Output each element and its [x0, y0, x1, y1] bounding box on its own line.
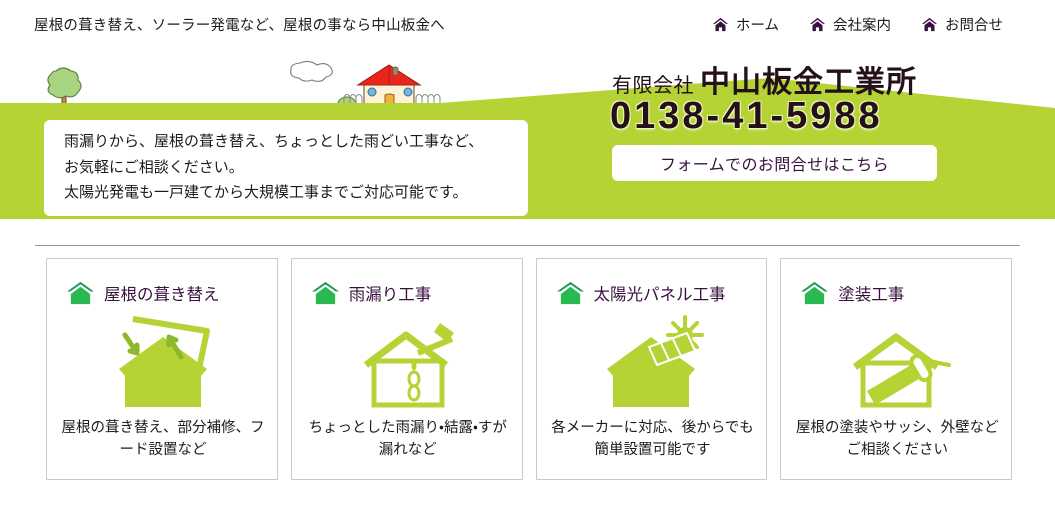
card-caption: 屋根の葺き替え、部分補修、フード設置など — [57, 417, 269, 462]
home-icon — [809, 17, 826, 32]
phone-number: 0138-41-5988 — [610, 95, 883, 138]
roof-replacement-icon — [47, 311, 279, 411]
nav-label: お問合せ — [945, 14, 1003, 35]
section-divider — [35, 245, 1020, 246]
service-card-painting[interactable]: 塗装工事 屋根の塗装やサッシ、外壁などご相談ください — [780, 258, 1012, 480]
home-icon — [66, 280, 95, 306]
paint-roller-icon — [781, 311, 1013, 411]
home-icon — [556, 280, 585, 306]
contact-form-button-label: フォームでのお問合せはこちら — [660, 151, 889, 175]
card-header: 塗装工事 — [800, 280, 904, 306]
home-icon — [311, 280, 340, 306]
leak-repair-icon — [292, 311, 524, 411]
nav-item-contact[interactable]: お問合せ — [921, 14, 1003, 35]
hero-message-line: 雨漏りから、屋根の葺き替え、ちょっとした雨どい工事など、 — [64, 133, 508, 152]
hero-banner: 雨漏りから、屋根の葺き替え、ちょっとした雨どい工事など、 お気軽にご相談ください… — [0, 47, 1055, 219]
hero-message-line: お気軽にご相談ください。 — [64, 159, 508, 178]
card-header: 屋根の葺き替え — [66, 280, 220, 306]
solar-panel-icon — [537, 311, 769, 411]
hero-message-line: 太陽光発電も一戸建てから大規模工事までご対応可能です。 — [64, 184, 508, 203]
card-caption: 屋根の塗装やサッシ、外壁などご相談ください — [791, 417, 1003, 462]
card-header: 雨漏り工事 — [311, 280, 432, 306]
card-caption: ちょっとした雨漏り・結露・すが漏れなど — [302, 417, 514, 462]
card-title: 屋根の葺き替え — [104, 281, 220, 305]
service-card-solar-panel[interactable]: 太陽光パネル工事 — [536, 258, 768, 480]
nav-item-company[interactable]: 会社案内 — [809, 14, 891, 35]
nav-label: ホーム — [736, 14, 779, 35]
card-title: 雨漏り工事 — [349, 281, 432, 305]
contact-form-button[interactable]: フォームでのお問合せはこちら — [612, 145, 937, 181]
home-icon — [712, 17, 729, 32]
company-name-prefix: 有限会社 — [612, 69, 694, 98]
home-icon — [800, 280, 829, 306]
site-header: 屋根の葺き替え、ソーラー発電など、屋根の事なら中山板金へ ホーム — [0, 0, 1055, 47]
hero-message-box: 雨漏りから、屋根の葺き替え、ちょっとした雨どい工事など、 お気軽にご相談ください… — [44, 120, 528, 216]
service-card-leak-repair[interactable]: 雨漏り工事 ちょっとした雨漏り・結露・すが漏れなど — [291, 258, 523, 480]
page-root: 屋根の葺き替え、ソーラー発電など、屋根の事なら中山板金へ ホーム — [0, 0, 1055, 517]
card-title: 太陽光パネル工事 — [594, 281, 726, 305]
card-caption: 各メーカーに対応、後からでも簡単設置可能です — [547, 417, 759, 462]
card-title: 塗装工事 — [838, 281, 904, 305]
card-header: 太陽光パネル工事 — [556, 280, 726, 306]
service-card-list: 屋根の葺き替え 屋根の葺き替え、部分補修、フード設置など — [46, 258, 1012, 480]
nav-item-home[interactable]: ホーム — [712, 14, 779, 35]
service-card-roof-replacement[interactable]: 屋根の葺き替え 屋根の葺き替え、部分補修、フード設置など — [46, 258, 278, 480]
home-icon — [921, 17, 938, 32]
main-nav: ホーム 会社案内 お問合せ — [712, 14, 1003, 35]
site-tagline: 屋根の葺き替え、ソーラー発電など、屋根の事なら中山板金へ — [34, 14, 445, 35]
nav-label: 会社案内 — [833, 14, 891, 35]
hero-contact-block: 有限会社 中山板金工業所 0138-41-5988 フォームでのお問合せはこちら — [560, 47, 1055, 219]
